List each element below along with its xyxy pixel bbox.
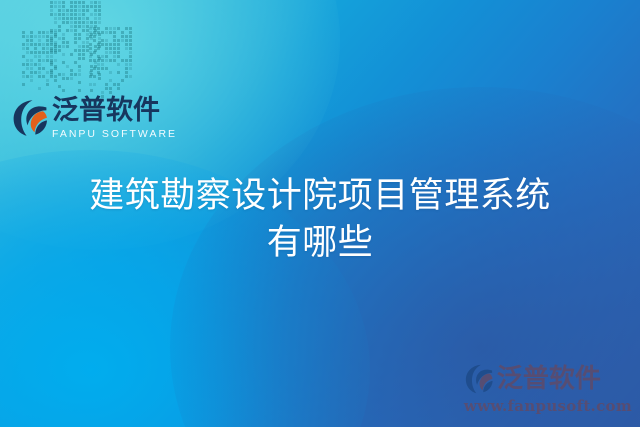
skyline-pixel	[70, 89, 73, 92]
skyline-pixel	[86, 5, 89, 8]
skyline-pixel	[58, 85, 61, 88]
skyline-pixel	[98, 9, 101, 12]
skyline-pixel	[98, 33, 101, 36]
skyline-pixel	[86, 77, 89, 80]
skyline-pixel	[58, 49, 61, 52]
skyline-pixel	[50, 33, 53, 36]
skyline-pixel	[70, 29, 73, 32]
skyline-pixel	[54, 65, 57, 68]
skyline-pixel	[42, 47, 45, 50]
skyline-pixel	[98, 5, 101, 8]
skyline-pixel	[66, 61, 69, 64]
skyline-pixel	[74, 9, 77, 12]
skyline-pixel	[125, 67, 128, 70]
skyline-pixel	[121, 47, 124, 50]
skyline-pixel	[101, 63, 104, 66]
skyline-pixel	[105, 39, 108, 42]
skyline-pixel	[82, 41, 85, 44]
skyline-pixel	[90, 53, 93, 56]
skyline-pixel	[117, 31, 120, 34]
skyline-pixel	[121, 55, 124, 58]
skyline-pixel	[50, 17, 53, 20]
skyline-pixel	[74, 41, 77, 44]
skyline-pixel	[121, 71, 124, 74]
skyline-pixel	[50, 49, 53, 52]
skyline-pixel	[34, 71, 37, 74]
skyline-pixel	[74, 89, 77, 92]
skyline-pixel	[62, 25, 65, 28]
skyline-pixel	[98, 37, 101, 40]
skyline-pixel	[98, 57, 101, 60]
skyline-pixel	[105, 47, 108, 50]
skyline-pixel	[129, 47, 132, 50]
skyline-pixel	[62, 77, 65, 80]
skyline-pixel	[34, 51, 37, 54]
skyline-tower-b	[50, 0, 101, 100]
skyline-pixel	[22, 51, 25, 54]
skyline-pixel	[105, 87, 108, 90]
skyline-pixel	[101, 31, 104, 34]
skyline-pixel	[129, 31, 132, 34]
skyline-pixel	[30, 43, 33, 46]
skyline-pixel	[90, 9, 93, 12]
skyline-pixel	[54, 37, 57, 40]
skyline-pixel	[58, 13, 61, 16]
skyline-pixel	[50, 1, 53, 4]
skyline-pixel	[50, 79, 53, 82]
skyline-pixel	[121, 87, 124, 90]
skyline-pixel	[97, 71, 100, 74]
skyline-pixel	[97, 63, 100, 66]
page-title-line-1: 建筑勘察设计院项目管理系统	[0, 173, 640, 220]
skyline-pixel	[89, 35, 92, 38]
watermark: 泛普软件 www.fanpusoft.com	[464, 363, 632, 415]
skyline-pixel	[66, 17, 69, 20]
skyline-pixel	[82, 29, 85, 32]
logo-name-cn: 泛普软件	[52, 97, 177, 124]
skyline-pixel	[94, 37, 97, 40]
skyline-pixel	[46, 43, 49, 46]
skyline-pixel	[94, 33, 97, 36]
skyline-pixel	[125, 79, 128, 82]
promo-banner: 泛普软件 FANPU SOFTWARE 建筑勘察设计院项目管理系统 有哪些 泛普…	[0, 0, 640, 427]
skyline-pixel	[74, 77, 77, 80]
skyline-pixel	[22, 67, 25, 70]
page-title-line-2: 有哪些	[0, 220, 640, 267]
skyline-pixel	[125, 35, 128, 38]
skyline-pixel	[78, 57, 81, 60]
skyline-pixel	[74, 21, 77, 24]
skyline-pixel	[105, 71, 108, 74]
skyline-pixel	[113, 71, 116, 74]
skyline-pixel	[94, 1, 97, 4]
skyline-pixel	[105, 67, 108, 70]
skyline-pixel	[97, 91, 100, 94]
skyline-pixel	[105, 31, 108, 34]
skyline-pixel	[34, 59, 37, 62]
skyline-pixel	[74, 1, 77, 4]
skyline-pixel	[94, 41, 97, 44]
skyline-pixel	[94, 13, 97, 16]
skyline-pixel	[98, 17, 101, 20]
skyline-pixel	[26, 59, 29, 62]
skyline-pixel	[93, 59, 96, 62]
skyline-pixel	[117, 83, 120, 86]
skyline-pixel	[105, 75, 108, 78]
skyline-pixel	[113, 87, 116, 90]
skyline-pixel	[117, 91, 120, 94]
skyline-pixel	[82, 53, 85, 56]
skyline-pixel	[42, 55, 45, 58]
skyline-pixel	[98, 1, 101, 4]
skyline-pixel	[97, 79, 100, 82]
skyline-pixel	[58, 61, 61, 64]
skyline-pixel	[58, 81, 61, 84]
skyline-pixel	[54, 39, 57, 42]
skyline-pixel	[94, 29, 97, 32]
skyline-pixel	[78, 5, 81, 8]
skyline-pixel	[94, 25, 97, 28]
skyline-pixel	[46, 75, 49, 78]
skyline-pixel	[117, 71, 120, 74]
skyline-pixel	[121, 91, 124, 94]
skyline-pixel	[70, 73, 73, 76]
skyline-pixel	[38, 67, 41, 70]
skyline-pixel	[54, 83, 57, 86]
brand-logo: 泛普软件 FANPU SOFTWARE	[12, 97, 177, 140]
skyline-pixel	[34, 39, 37, 42]
skyline-pixel	[66, 81, 69, 84]
skyline-pixel	[46, 67, 49, 70]
skyline-pixel	[90, 85, 93, 88]
skyline-pixel	[62, 81, 65, 84]
skyline-pixel	[54, 45, 57, 48]
skyline-pixel	[50, 51, 53, 54]
skyline-pixel	[30, 51, 33, 54]
skyline-pixel	[109, 35, 112, 38]
skyline-pixel	[125, 71, 128, 74]
skyline-pixel	[54, 85, 57, 88]
skyline-pixel	[90, 5, 93, 8]
skyline-pixel	[54, 51, 57, 54]
skyline-pixel	[54, 29, 57, 32]
skyline-pixel	[50, 13, 53, 16]
skyline-pixel	[109, 87, 112, 90]
skyline-pixel	[34, 67, 37, 70]
skyline-pixel	[54, 25, 57, 28]
skyline-pixel	[121, 79, 124, 82]
skyline-pixel	[30, 63, 33, 66]
skyline-pixel	[89, 27, 92, 30]
skyline-pixel	[22, 87, 25, 90]
skyline-pixel	[101, 39, 104, 42]
skyline-pixel	[74, 45, 77, 48]
skyline-pixel	[90, 49, 93, 52]
skyline-pixel	[70, 49, 73, 52]
skyline-pixel	[50, 73, 53, 76]
skyline-pixel	[30, 79, 33, 82]
skyline-pixel	[82, 9, 85, 12]
fanpu-leaf-logo-icon	[464, 363, 494, 395]
skyline-pixel	[98, 65, 101, 68]
skyline-pixel	[82, 89, 85, 92]
skyline-pixel	[89, 91, 92, 94]
skyline-pixel	[38, 39, 41, 42]
skyline-pixel	[34, 75, 37, 78]
skyline-pixel	[94, 49, 97, 52]
skyline-pixel	[78, 13, 81, 16]
skyline-pixel	[97, 87, 100, 90]
skyline-pixel	[89, 79, 92, 82]
skyline-pixel	[46, 39, 49, 42]
skyline-pixel	[90, 81, 93, 84]
skyline-pixel	[93, 43, 96, 46]
skyline-pixel	[50, 53, 53, 56]
skyline-pixel	[86, 21, 89, 24]
skyline-pixel	[113, 35, 116, 38]
skyline-pixel	[101, 55, 104, 58]
skyline-pixel	[54, 17, 57, 20]
skyline-pixel	[34, 35, 37, 38]
skyline-pixel	[97, 47, 100, 50]
skyline-pixel	[30, 75, 33, 78]
skyline-pixel	[117, 47, 120, 50]
skyline-pixel	[93, 31, 96, 34]
skyline-pixel	[94, 81, 97, 84]
skyline-pixel	[34, 63, 37, 66]
skyline-pixel	[74, 57, 77, 60]
skyline-pixel	[66, 21, 69, 24]
skyline-pixel	[70, 45, 73, 48]
skyline-pixel	[105, 91, 108, 94]
skyline-pixel	[30, 67, 33, 70]
skyline-pixel	[38, 71, 41, 74]
skyline-pixel	[46, 91, 49, 94]
skyline-pixel	[78, 69, 81, 72]
skyline-pixel	[89, 43, 92, 46]
skyline-pixel	[62, 17, 65, 20]
skyline-pixel	[94, 73, 97, 76]
skyline-pixel	[86, 57, 89, 60]
skyline-pixel	[46, 59, 49, 62]
skyline-pixel	[82, 37, 85, 40]
skyline-pixel	[58, 41, 61, 44]
skyline-pixel	[82, 33, 85, 36]
skyline-pixel	[121, 43, 124, 46]
skyline-pixel	[93, 91, 96, 94]
skyline-pixel	[113, 79, 116, 82]
skyline-pixel	[70, 77, 73, 80]
skyline-pixel	[30, 47, 33, 50]
skyline-pixel	[46, 31, 49, 34]
skyline-pixel	[109, 31, 112, 34]
skyline-pixel	[90, 33, 93, 36]
skyline-pixel	[109, 83, 112, 86]
skyline-pixel	[54, 53, 57, 56]
skyline-pixel	[90, 25, 93, 28]
skyline-pixel	[78, 89, 81, 92]
skyline-pixel	[62, 89, 65, 92]
skyline-pixel	[94, 65, 97, 68]
skyline-pixel	[50, 61, 53, 64]
skyline-pixel	[105, 63, 108, 66]
skyline-pixel	[97, 55, 100, 58]
skyline-pixel	[58, 77, 61, 80]
skyline-pixel	[66, 65, 69, 68]
skyline-pixel	[58, 57, 61, 60]
skyline-pixel	[82, 57, 85, 60]
skyline-pixel	[78, 61, 81, 64]
skyline-pixel	[86, 9, 89, 12]
skyline-pixel	[121, 35, 124, 38]
skyline-pixel	[74, 49, 77, 52]
skyline-pixel	[82, 25, 85, 28]
skyline-pixel	[34, 47, 37, 50]
skyline-pixel	[113, 67, 116, 70]
skyline-pixel	[54, 71, 57, 74]
skyline-pixel	[66, 9, 69, 12]
skyline-pixel	[117, 35, 120, 38]
skyline-pixel	[26, 63, 29, 66]
skyline-pixel	[82, 85, 85, 88]
skyline-pixel	[94, 53, 97, 56]
watermark-logo-row: 泛普软件	[464, 363, 632, 395]
skyline-pixel	[97, 83, 100, 86]
skyline-pixel	[86, 85, 89, 88]
skyline-pixel	[129, 39, 132, 42]
skyline-pixel	[42, 75, 45, 78]
skyline-pixel	[58, 5, 61, 8]
skyline-pixel	[50, 45, 53, 48]
skyline-pixel	[89, 31, 92, 34]
skyline-pixel	[30, 83, 33, 86]
skyline-pixel	[22, 75, 25, 78]
skyline-pixel	[26, 79, 29, 82]
skyline-pixel	[105, 79, 108, 82]
skyline-pixel	[66, 29, 69, 32]
skyline-pixel	[101, 67, 104, 70]
skyline-pixel	[125, 39, 128, 42]
skyline-pixel	[22, 79, 25, 82]
skyline-pixel	[113, 75, 116, 78]
skyline-pixel	[93, 39, 96, 42]
skyline-pixel	[101, 71, 104, 74]
skyline-pixel	[105, 43, 108, 46]
skyline-pixel	[117, 55, 120, 58]
skyline-pixel	[38, 59, 41, 62]
skyline-pixel	[34, 31, 37, 34]
skyline-pixel	[78, 73, 81, 76]
skyline-pixel	[38, 51, 41, 54]
skyline-pixel	[98, 77, 101, 80]
skyline-pixel	[66, 77, 69, 80]
skyline-pixel	[50, 43, 53, 46]
skyline-pixel	[50, 55, 53, 58]
skyline-pixel	[22, 59, 25, 62]
skyline-pixel	[93, 63, 96, 66]
skyline-pixel	[97, 75, 100, 78]
skyline-pixel	[90, 17, 93, 20]
skyline-pixel	[62, 41, 65, 44]
skyline-pixel	[117, 39, 120, 42]
skyline-pixel	[86, 53, 89, 56]
skyline-pixel	[90, 57, 93, 60]
skyline-pixel	[58, 9, 61, 12]
skyline-pixel	[50, 47, 53, 50]
skyline-pixel	[42, 67, 45, 70]
skyline-pixel	[34, 55, 37, 58]
skyline-pixel	[89, 87, 92, 90]
skyline-pixel	[125, 43, 128, 46]
skyline-pixel	[82, 69, 85, 72]
skyline-pixel	[70, 81, 73, 84]
skyline-pixel	[66, 49, 69, 52]
page-title: 建筑勘察设计院项目管理系统 有哪些	[0, 173, 640, 266]
skyline-pixel	[113, 91, 116, 94]
skyline-pixel	[42, 87, 45, 90]
skyline-pixel	[46, 71, 49, 74]
skyline-pixel	[66, 53, 69, 56]
skyline-pixel	[70, 69, 73, 72]
skyline-pixel	[105, 35, 108, 38]
skyline-pixel	[62, 49, 65, 52]
pixel-skyline-icon	[0, 0, 200, 110]
skyline-pixel	[58, 1, 61, 4]
skyline-pixel	[129, 79, 132, 82]
skyline-pixel	[26, 91, 29, 94]
skyline-pixel	[86, 61, 89, 64]
skyline-pixel	[94, 21, 97, 24]
skyline-pixel	[74, 61, 77, 64]
skyline-pixel	[70, 21, 73, 24]
skyline-pixel	[86, 45, 89, 48]
skyline-pixel	[117, 27, 120, 30]
skyline-pixel	[50, 35, 53, 38]
skyline-pixel	[46, 79, 49, 82]
skyline-pixel	[30, 55, 33, 58]
skyline-pixel	[94, 77, 97, 80]
skyline-pixel	[101, 59, 104, 62]
skyline-pixel	[42, 35, 45, 38]
skyline-pixel	[58, 17, 61, 20]
skyline-pixel	[94, 5, 97, 8]
skyline-pixel	[93, 55, 96, 58]
skyline-pixel	[42, 91, 45, 94]
skyline-pixel	[50, 31, 53, 34]
skyline-pixel	[30, 91, 33, 94]
skyline-pixel	[93, 75, 96, 78]
skyline-pixel	[58, 37, 61, 40]
skyline-pixel	[26, 39, 29, 42]
skyline-pixel	[62, 61, 65, 64]
skyline-pixel	[90, 1, 93, 4]
skyline-pixel	[121, 67, 124, 70]
skyline-pixel	[86, 13, 89, 16]
skyline-pixel	[78, 33, 81, 36]
skyline-pixel	[78, 85, 81, 88]
skyline-pixel	[97, 51, 100, 54]
skyline-pixel	[62, 73, 65, 76]
skyline-pixel	[89, 51, 92, 54]
skyline-pixel	[66, 33, 69, 36]
skyline-pixel	[70, 41, 73, 44]
skyline-pixel	[70, 65, 73, 68]
skyline-pixel	[125, 63, 128, 66]
skyline-pixel	[101, 79, 104, 82]
skyline-pixel	[93, 35, 96, 38]
skyline-pixel	[125, 75, 128, 78]
skyline-pixel	[38, 35, 41, 38]
